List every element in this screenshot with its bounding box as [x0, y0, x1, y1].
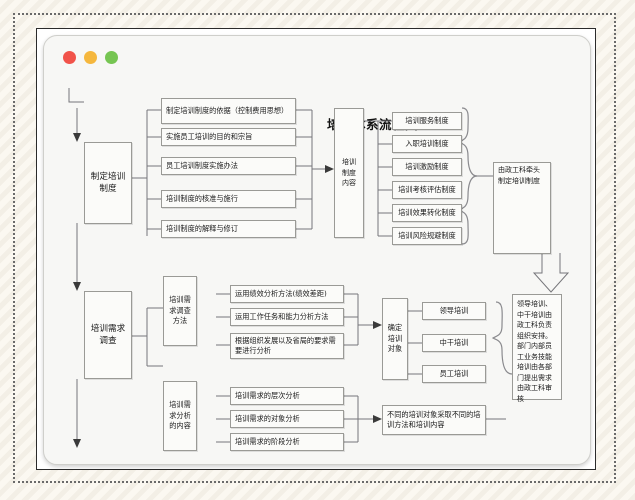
node-content-item[interactable]: 培训考核评估制度 — [392, 181, 462, 199]
node-content-item[interactable]: 培训效果转化制度 — [392, 204, 462, 222]
node-training-target[interactable]: 领导培训 — [422, 302, 486, 320]
note-different-target-method[interactable]: 不同的培训对象采取不同的培训方法和培训内容 — [382, 405, 486, 435]
node-survey-method[interactable]: 运用绩效分析方法(绩效差距) — [230, 285, 344, 303]
maximize-icon[interactable] — [105, 51, 118, 64]
node-stage1-item[interactable]: 培训制度的解释与修订 — [161, 220, 296, 238]
node-content-item[interactable]: 培训激励制度 — [392, 158, 462, 176]
node-need-analysis-item[interactable]: 培训需求的对象分析 — [230, 410, 344, 428]
node-stage1-outcome[interactable]: 由政工科牵头制定培训制度 — [493, 162, 551, 254]
node-content-item[interactable]: 培训服务制度 — [392, 112, 462, 130]
app-window: 培训体系流程图 — [43, 35, 591, 465]
window-controls — [63, 51, 118, 64]
node-stage1-item[interactable]: 制定培训制度的依据（控制费用思想） — [161, 98, 296, 124]
node-training-system-contents-label[interactable]: 培训制度内容 — [334, 108, 364, 238]
node-training-target-label[interactable]: 确定培训对象 — [382, 298, 408, 380]
node-stage2-root[interactable]: 培训需求调查 — [84, 291, 132, 379]
node-survey-method[interactable]: 运用工作任务和能力分析方法 — [230, 308, 344, 326]
note-training-responsibility[interactable]: 领导培训、中干培训由政工科负责组织安排。部门内部员工业务技能培训由各部门提出需求… — [512, 294, 562, 400]
node-content-item[interactable]: 入职培训制度 — [392, 135, 462, 153]
node-stage1-root[interactable]: 制定培训制度 — [84, 142, 132, 224]
node-need-analysis-item[interactable]: 培训需求的层次分析 — [230, 387, 344, 405]
node-stage1-item[interactable]: 员工培训制度实施办法 — [161, 157, 296, 175]
node-need-analysis-item[interactable]: 培训需求的阶段分析 — [230, 433, 344, 451]
node-training-target[interactable]: 中干培训 — [422, 334, 486, 352]
node-survey-method[interactable]: 根据组织发展以及省局的要求需要进行分析 — [230, 333, 344, 359]
close-icon[interactable] — [63, 51, 76, 64]
node-training-target[interactable]: 员工培训 — [422, 365, 486, 383]
node-content-item[interactable]: 培训风险规避制度 — [392, 227, 462, 245]
node-survey-method-label[interactable]: 培训需求调查方法 — [163, 276, 197, 346]
minimize-icon[interactable] — [84, 51, 97, 64]
node-stage1-item[interactable]: 实施员工培训的目的和宗旨 — [161, 128, 296, 146]
node-stage1-item[interactable]: 培训制度的核准与施行 — [161, 190, 296, 208]
node-need-analysis-label[interactable]: 培训需求分析的内容 — [163, 381, 197, 451]
